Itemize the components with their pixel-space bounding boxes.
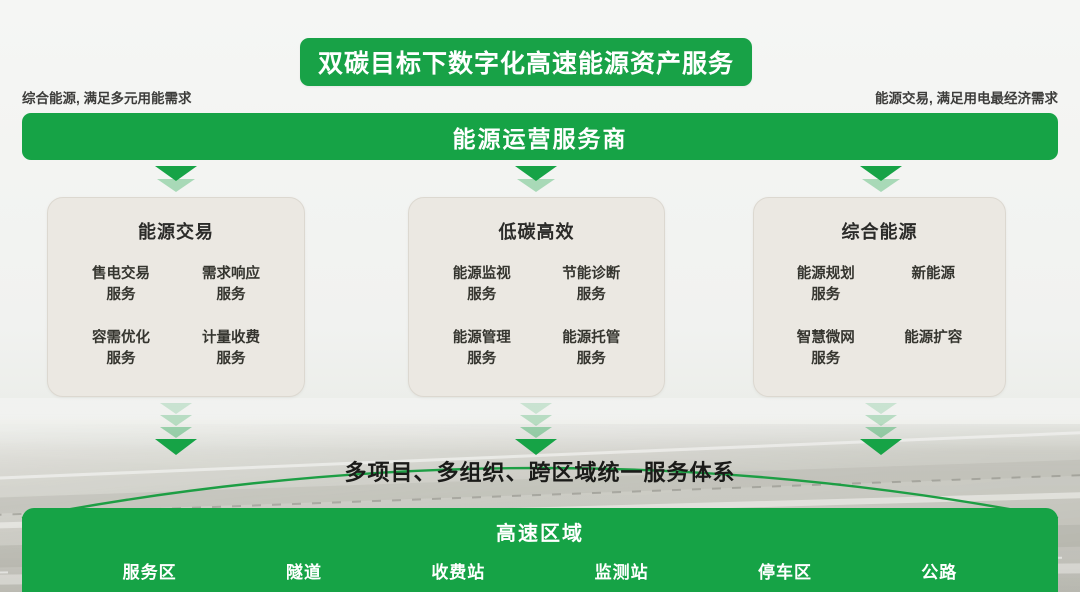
zone-item-parking-area[interactable]: 停车区 bbox=[758, 558, 812, 583]
card-item[interactable]: 容需优化 服务 bbox=[66, 328, 176, 370]
card-item-grid: 售电交易 服务 需求响应 服务 容需优化 服务 计量收费 服务 bbox=[48, 264, 304, 370]
zone-item-list: 服务区 隧道 收费站 监测站 停车区 公路 bbox=[22, 558, 1058, 583]
card-item[interactable]: 智慧微网 服务 bbox=[772, 328, 880, 370]
operator-banner: 能源运营服务商 bbox=[22, 113, 1058, 160]
card-item-grid: 能源监视 服务 节能诊断 服务 能源管理 服务 能源托管 服务 bbox=[409, 264, 664, 370]
caption-right: 能源交易, 满足用电最经济需求 bbox=[875, 87, 1058, 107]
card-item[interactable]: 能源规划 服务 bbox=[772, 264, 880, 306]
service-card-energy-trading[interactable]: 能源交易 售电交易 服务 需求响应 服务 容需优化 服务 计量收费 服务 bbox=[47, 197, 305, 397]
card-item[interactable]: 能源托管 服务 bbox=[537, 328, 647, 370]
zone-item-service-area[interactable]: 服务区 bbox=[123, 558, 177, 583]
infographic-canvas: 双碳目标下数字化高速能源资产服务 综合能源, 满足多元用能需求 能源交易, 满足… bbox=[0, 0, 1080, 592]
zone-item-highway[interactable]: 公路 bbox=[921, 558, 957, 583]
service-card-low-carbon[interactable]: 低碳高效 能源监视 服务 节能诊断 服务 能源管理 服务 能源托管 服务 bbox=[408, 197, 665, 397]
card-title: 综合能源 bbox=[754, 218, 1005, 244]
zone-bar-title: 高速区域 bbox=[22, 517, 1058, 546]
chevron-down-icon bbox=[157, 179, 195, 192]
zone-item-monitor-station[interactable]: 监测站 bbox=[595, 558, 649, 583]
service-card-integrated-energy[interactable]: 综合能源 能源规划 服务 新能源 智慧微网 服务 能源扩容 bbox=[753, 197, 1006, 397]
card-item-grid: 能源规划 服务 新能源 智慧微网 服务 能源扩容 bbox=[754, 264, 1005, 370]
card-item[interactable]: 节能诊断 服务 bbox=[537, 264, 647, 306]
card-item[interactable]: 售电交易 服务 bbox=[66, 264, 176, 306]
card-title: 低碳高效 bbox=[409, 218, 664, 244]
card-item[interactable]: 计量收费 服务 bbox=[176, 328, 286, 370]
card-item[interactable]: 能源监视 服务 bbox=[427, 264, 537, 306]
page-title: 双碳目标下数字化高速能源资产服务 bbox=[318, 44, 734, 80]
operator-banner-label: 能源运营服务商 bbox=[453, 120, 628, 154]
page-title-pill: 双碳目标下数字化高速能源资产服务 bbox=[300, 38, 752, 86]
highway-zone-bar: 高速区域 服务区 隧道 收费站 监测站 停车区 公路 bbox=[22, 508, 1058, 592]
chevron-down-icon bbox=[517, 179, 555, 192]
zone-item-toll-station[interactable]: 收费站 bbox=[431, 558, 485, 583]
caption-left: 综合能源, 满足多元用能需求 bbox=[22, 87, 192, 107]
unified-system-label: 多项目、多组织、跨区域统一服务体系 bbox=[0, 455, 1080, 487]
card-item[interactable]: 能源扩容 bbox=[880, 328, 988, 370]
chevron-down-icon bbox=[862, 179, 900, 192]
card-item[interactable]: 需求响应 服务 bbox=[176, 264, 286, 306]
card-title: 能源交易 bbox=[48, 218, 304, 244]
card-item[interactable]: 能源管理 服务 bbox=[427, 328, 537, 370]
zone-item-tunnel[interactable]: 隧道 bbox=[286, 558, 322, 583]
card-item[interactable]: 新能源 bbox=[880, 264, 988, 306]
